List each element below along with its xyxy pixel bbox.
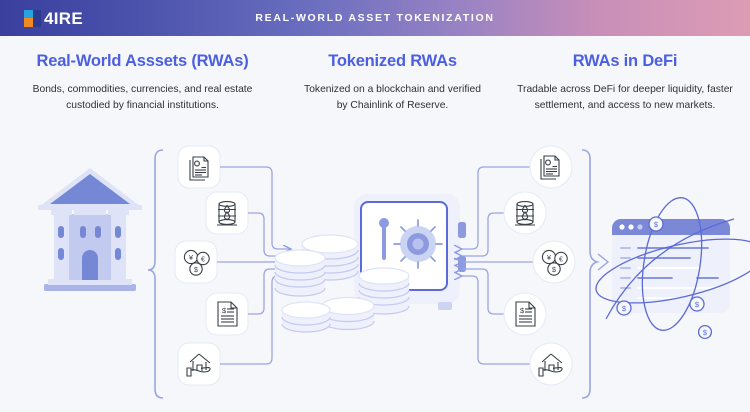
header-bar: 4IRE REAL-WORLD ASSET TOKENIZATION [0, 0, 750, 36]
asset-icon-currencies-right[interactable]: ¥ € $ [533, 241, 575, 283]
illustration-stage: ¥ € $ $ [0, 136, 750, 412]
column-headings: Real-World Asssets (RWAs) Bonds, commodi… [0, 36, 750, 114]
column-body: Bonds, commodities, currencies, and real… [14, 82, 271, 114]
safe-vault-with-coins-icon [275, 194, 466, 332]
svg-text:€: € [201, 256, 205, 263]
asset-icon-real-estate-right[interactable] [530, 343, 572, 385]
asset-icon-commodities-right[interactable] [504, 192, 546, 234]
asset-icon-bonds-left[interactable] [178, 146, 220, 188]
column-rwas-in-defi: RWAs in DeFi Tradable across DeFi for de… [500, 52, 750, 114]
asset-icon-currencies-left[interactable]: ¥ € $ [175, 241, 217, 283]
svg-text:$: $ [552, 267, 556, 274]
asset-icon-real-estate-left[interactable] [178, 343, 220, 385]
svg-text:$: $ [194, 267, 198, 274]
column-body: Tradable across DeFi for deeper liquidit… [514, 82, 736, 114]
column-heading: Real-World Asssets (RWAs) [14, 52, 271, 71]
asset-icon-invoice-right[interactable]: $ [504, 293, 546, 335]
left-brace-icon [148, 150, 163, 398]
column-heading: RWAs in DeFi [514, 52, 736, 71]
column-heading: Tokenized RWAs [299, 52, 486, 71]
page-title: REAL-WORLD ASSET TOKENIZATION [0, 12, 750, 24]
svg-text:€: € [559, 256, 563, 263]
column-tokenized-rwas: Tokenized RWAs Tokenized on a blockchain… [285, 52, 500, 114]
asset-icon-commodities-left[interactable] [206, 192, 248, 234]
asset-icon-invoice-left[interactable]: $ [206, 293, 248, 335]
asset-icon-bonds-right[interactable] [530, 146, 572, 188]
column-body: Tokenized on a blockchain and verified b… [299, 82, 486, 114]
right-brace-icon [582, 150, 597, 398]
column-real-world-assets: Real-World Asssets (RWAs) Bonds, commodi… [0, 52, 285, 114]
bank-building-icon [38, 168, 142, 291]
browser-window-with-orbiting-coins-icon: $ $ $ $ [590, 193, 750, 338]
